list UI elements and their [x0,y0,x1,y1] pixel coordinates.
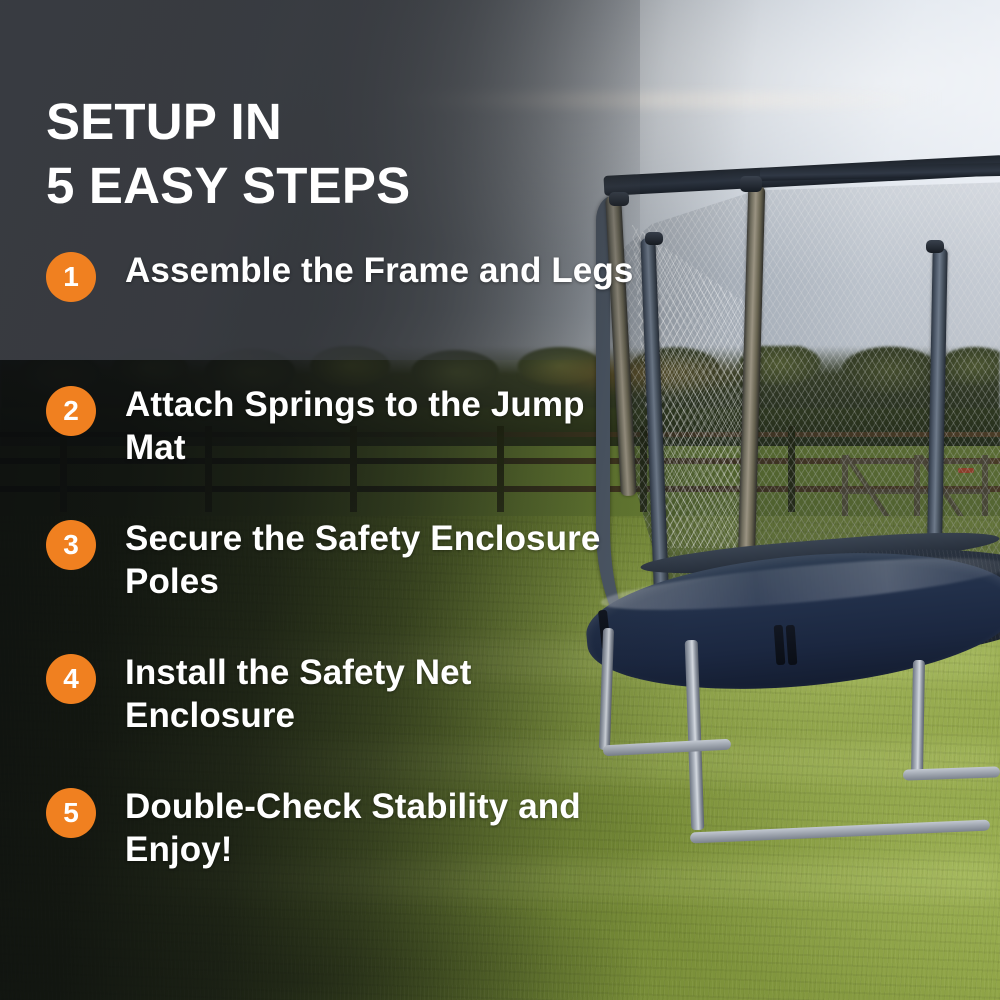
step-label-3: Secure the Safety Enclosure Poles [125,519,600,601]
step-label-4: Install the Safety Net Enclosure [125,653,471,735]
step-number-badge-2: 2 [46,386,96,436]
step-number-badge-3: 3 [46,520,96,570]
step-label-1: Assemble the Frame and Legs [125,251,633,290]
list-item: 4 Install the Safety Net Enclosure [46,651,646,785]
list-item: 2 Attach Springs to the Jump Mat [46,383,646,517]
overlay-content: SETUP IN 5 EASY STEPS 1 Assemble the Fra… [0,0,1000,1000]
step-number-badge-4: 4 [46,654,96,704]
step-number-badge-5: 5 [46,788,96,838]
list-item: 1 Assemble the Frame and Legs [46,249,646,383]
infographic-canvas: SETUP IN 5 EASY STEPS 1 Assemble the Fra… [0,0,1000,1000]
headline-line-2: 5 EASY STEPS [46,154,606,218]
step-label-5: Double-Check Stability and Enjoy! [125,787,581,869]
headline-line-1: SETUP IN [46,90,606,154]
step-label-2: Attach Springs to the Jump Mat [125,385,585,467]
setup-steps-list: 1 Assemble the Frame and Legs 2 Attach S… [46,249,646,919]
list-item: 3 Secure the Safety Enclosure Poles [46,517,646,651]
list-item: 5 Double-Check Stability and Enjoy! [46,785,646,919]
page-title: SETUP IN 5 EASY STEPS [46,90,606,219]
step-number-badge-1: 1 [46,252,96,302]
